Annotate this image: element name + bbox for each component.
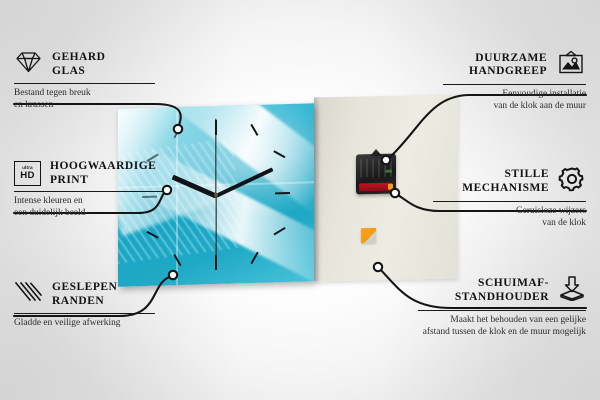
feature-divider — [14, 313, 155, 314]
ultra-hd-icon: ultra HD — [14, 161, 41, 186]
hour-tick-8 — [146, 231, 158, 239]
feature-header: STILLEMECHANISME — [433, 166, 586, 197]
product-image — [118, 92, 463, 297]
feature-title: GESLEPENRANDEN — [52, 281, 117, 308]
feature-description: Gladde en veilige afwerking — [14, 318, 157, 330]
feature-title: SCHUIMAF-STANDHOUDER — [455, 277, 549, 304]
down-arrow-pad-icon — [558, 275, 586, 306]
feature-title: STILLEMECHANISME — [462, 168, 549, 195]
feature-divider — [418, 310, 586, 311]
feature-geslepen-randen[interactable]: GESLEPENRANDEN Gladde en veilige afwerki… — [14, 280, 157, 330]
feature-description: Geruisloze wijzersvan de klok — [433, 206, 586, 229]
feature-header: ultra HD HOOGWAARDIGEPRINT — [14, 160, 164, 187]
hour-tick-11 — [173, 126, 181, 138]
feature-header: GESLEPENRANDEN — [14, 280, 157, 309]
ultra-hd-icon-main: HD — [20, 171, 34, 181]
feature-title: DUURZAMEHANDGREEP — [469, 52, 547, 79]
feature-schuimafstandhouder[interactable]: SCHUIMAF-STANDHOUDER Maakt het behouden … — [418, 275, 586, 338]
feature-stille-mechanisme[interactable]: STILLEMECHANISME Geruisloze wijzersvan d… — [433, 166, 586, 229]
feature-duurzame-handgreep[interactable]: DUURZAMEHANDGREEP Eenvoudige installatie… — [443, 50, 586, 112]
picture-frame-icon — [556, 50, 586, 80]
infographic-stage: GEHARDGLAS Bestand tegen breuken krassen… — [0, 0, 600, 400]
feature-divider — [14, 191, 162, 192]
feature-header: SCHUIMAF-STANDHOUDER — [418, 275, 586, 306]
hour-tick-7 — [173, 254, 181, 266]
feature-header: GEHARDGLAS — [14, 50, 157, 79]
feature-divider — [443, 84, 586, 85]
hour-tick-4 — [273, 227, 285, 235]
feature-description: Maakt het behouden van een gelijkeafstan… — [418, 315, 586, 338]
feature-description: Bestand tegen breuken krassen — [14, 88, 157, 111]
feature-divider — [14, 83, 155, 84]
feature-hoogwaardige-print[interactable]: ultra HD HOOGWAARDIGEPRINT Intense kleur… — [14, 160, 164, 219]
feature-divider — [433, 201, 586, 202]
feature-description: Eenvoudige installatievan de klok aan de… — [443, 89, 586, 112]
diamond-icon — [14, 50, 43, 79]
battery — [359, 182, 392, 191]
mechanism-label — [385, 170, 392, 173]
gear-icon — [558, 166, 586, 197]
feature-title: GEHARDGLAS — [52, 51, 105, 78]
feature-header: DUURZAMEHANDGREEP — [443, 50, 586, 80]
feature-gehard-glas[interactable]: GEHARDGLAS Bestand tegen breuken krassen — [14, 50, 157, 111]
feature-description: Intense kleuren eneen duidelijk beeld — [14, 196, 164, 219]
hour-tick-5 — [250, 252, 258, 264]
hour-tick-3 — [275, 192, 290, 195]
foam-spacer-pad — [361, 228, 376, 243]
mechanism-slots — [360, 159, 392, 178]
hour-tick-1 — [250, 124, 258, 136]
hour-tick-2 — [273, 150, 285, 158]
second-hand — [215, 195, 216, 269]
diagonal-lines-icon — [14, 280, 43, 309]
feather-streak-2 — [164, 103, 314, 225]
clock-mechanism — [356, 154, 396, 195]
feature-title: HOOGWAARDIGEPRINT — [50, 160, 156, 187]
